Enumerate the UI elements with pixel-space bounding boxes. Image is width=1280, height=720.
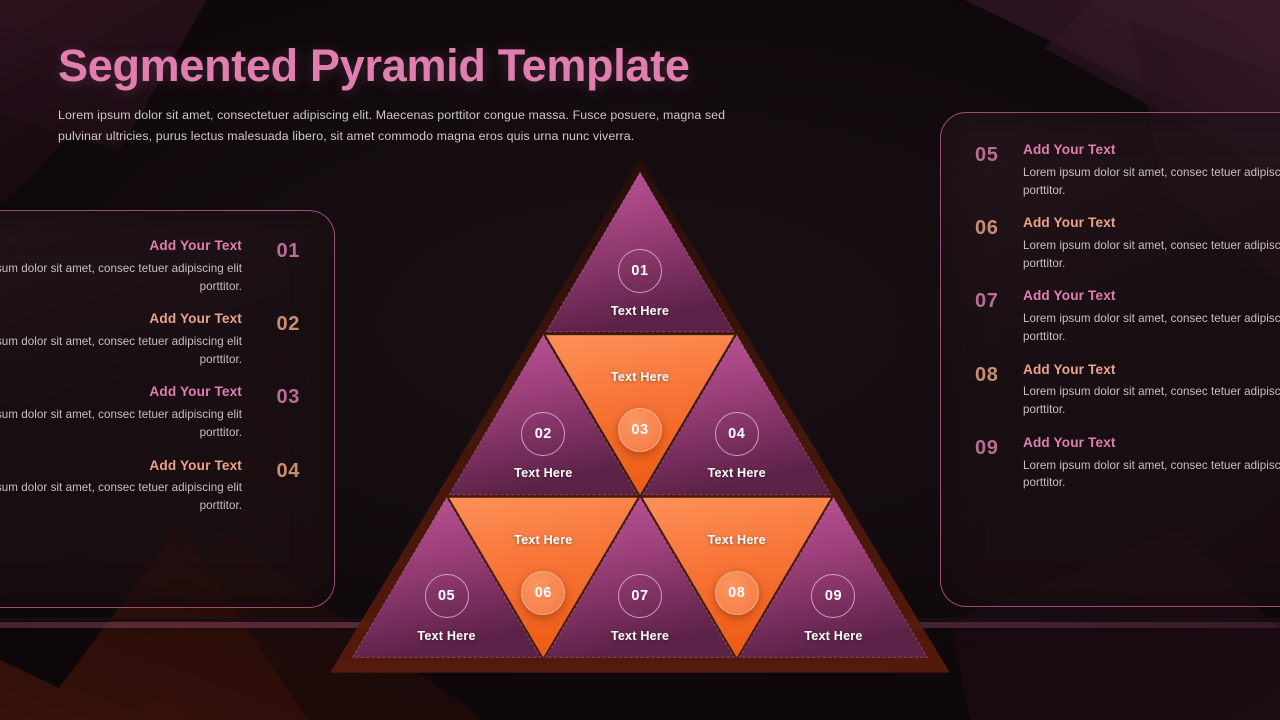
item-body: Lorem ipsum dolor sit amet, consec tetue… [0,406,242,441]
item-number: 05 [975,143,1023,199]
segment-badge-04[interactable]: 04 [715,412,759,456]
item-number: 07 [975,289,1023,345]
item-text-block: Add Your TextLorem ipsum dolor sit amet,… [0,312,256,368]
item-text-block: Add Your TextLorem ipsum dolor sit amet,… [0,385,256,441]
item-body: Lorem ipsum dolor sit amet, consec tetue… [0,333,242,368]
list-item[interactable]: 02Add Your TextLorem ipsum dolor sit ame… [0,312,300,368]
segment-badge-02[interactable]: 02 [521,412,565,456]
item-heading: Add Your Text [0,385,242,400]
item-heading: Add Your Text [0,239,242,254]
item-number: 08 [975,363,1023,419]
item-body: Lorem ipsum dolor sit amet, consec tetue… [1023,237,1280,272]
list-item[interactable]: 05Add Your TextLorem ipsum dolor sit ame… [975,143,1280,199]
item-body: Lorem ipsum dolor sit amet, consec tetue… [1023,383,1280,418]
item-heading: Add Your Text [1023,143,1280,158]
item-body: Lorem ipsum dolor sit amet, consec tetue… [1023,457,1280,492]
item-number: 03 [256,385,300,441]
list-item[interactable]: 01Add Your TextLorem ipsum dolor sit ame… [0,239,300,295]
item-heading: Add Your Text [0,459,242,474]
page-title: Segmented Pyramid Template [58,42,818,91]
segment-badge-05[interactable]: 05 [425,574,469,618]
segment-badge-08[interactable]: 08 [715,571,759,615]
segment-badge-09[interactable]: 09 [811,574,855,618]
item-heading: Add Your Text [1023,436,1280,451]
left-info-panel: 01Add Your TextLorem ipsum dolor sit ame… [0,210,335,608]
item-heading: Add Your Text [1023,363,1280,378]
item-number: 09 [975,436,1023,492]
list-item[interactable]: 09Add Your TextLorem ipsum dolor sit ame… [975,436,1280,492]
item-body: Lorem ipsum dolor sit amet, consec tetue… [0,260,242,295]
item-body: Lorem ipsum dolor sit amet, consec tetue… [0,479,242,514]
item-text-block: Add Your TextLorem ipsum dolor sit amet,… [0,239,256,295]
item-text-block: Add Your TextLorem ipsum dolor sit amet,… [1023,363,1280,419]
item-heading: Add Your Text [1023,289,1280,304]
item-number: 02 [256,312,300,368]
right-info-panel: 05Add Your TextLorem ipsum dolor sit ame… [940,112,1280,607]
list-item[interactable]: 03Add Your TextLorem ipsum dolor sit ame… [0,385,300,441]
item-text-block: Add Your TextLorem ipsum dolor sit amet,… [1023,216,1280,272]
item-number: 06 [975,216,1023,272]
segment-badge-03[interactable]: 03 [618,408,662,452]
header: Segmented Pyramid Template Lorem ipsum d… [58,42,818,147]
item-text-block: Add Your TextLorem ipsum dolor sit amet,… [1023,436,1280,492]
list-item[interactable]: 06Add Your TextLorem ipsum dolor sit ame… [975,216,1280,272]
list-item[interactable]: 07Add Your TextLorem ipsum dolor sit ame… [975,289,1280,345]
item-body: Lorem ipsum dolor sit amet, consec tetue… [1023,310,1280,345]
item-number: 04 [256,459,300,515]
page-subtitle: Lorem ipsum dolor sit amet, consectetuer… [58,105,768,148]
list-item[interactable]: 04Add Your TextLorem ipsum dolor sit ame… [0,459,300,515]
segment-badge-01[interactable]: 01 [618,249,662,293]
segment-badge-06[interactable]: 06 [521,571,565,615]
item-text-block: Add Your TextLorem ipsum dolor sit amet,… [1023,289,1280,345]
item-body: Lorem ipsum dolor sit amet, consec tetue… [1023,164,1280,199]
item-text-block: Add Your TextLorem ipsum dolor sit amet,… [0,459,256,515]
list-item[interactable]: 08Add Your TextLorem ipsum dolor sit ame… [975,363,1280,419]
item-text-block: Add Your TextLorem ipsum dolor sit amet,… [1023,143,1280,199]
segmented-pyramid-diagram: 01Text Here02Text Here03Text Here04Text … [330,158,950,673]
item-heading: Add Your Text [1023,216,1280,231]
item-heading: Add Your Text [0,312,242,327]
segment-badge-07[interactable]: 07 [618,574,662,618]
item-number: 01 [256,239,300,295]
